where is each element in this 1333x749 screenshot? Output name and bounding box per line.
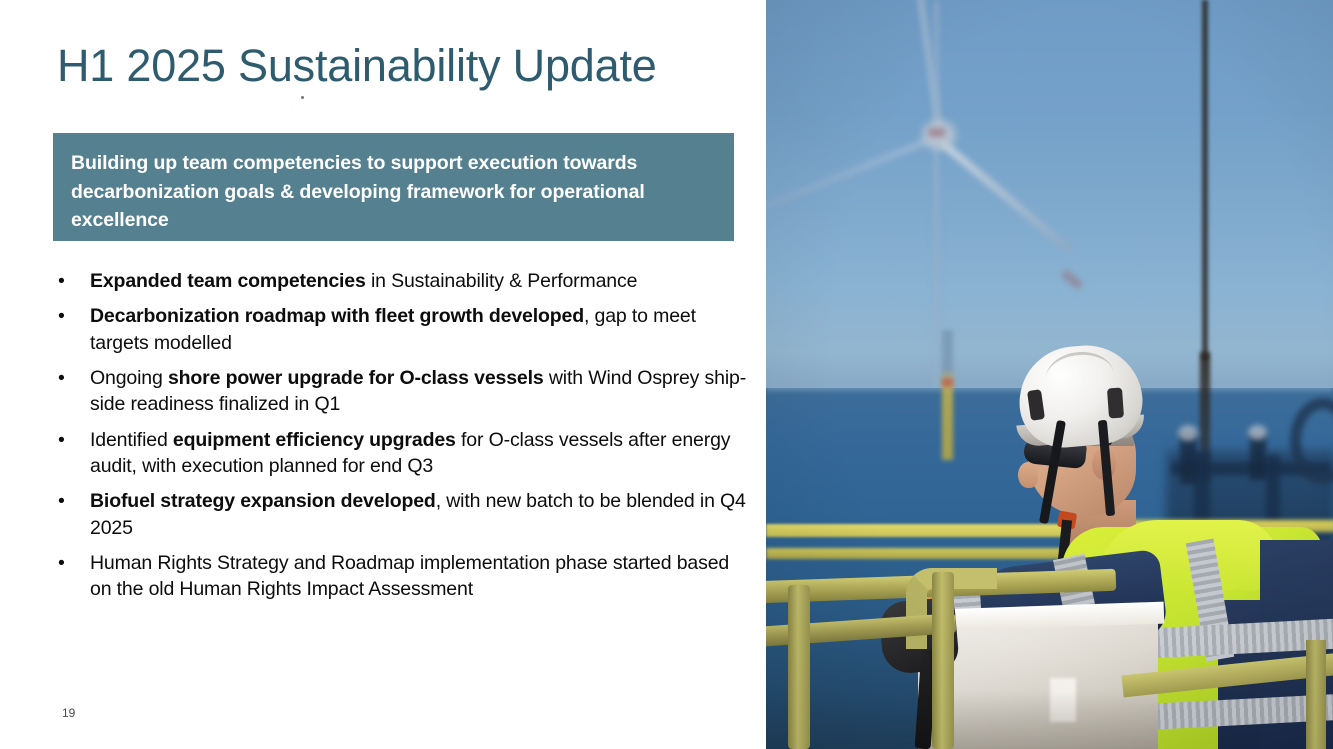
bullet-marker: • <box>58 550 65 576</box>
bullet-text-plain: in Sustainability & Performance <box>366 270 638 292</box>
railing-bar <box>766 524 1096 537</box>
bullet-item: •Expanded team competencies in Sustainab… <box>53 268 753 294</box>
bullet-item: •Biofuel strategy expansion developed, w… <box>53 488 753 541</box>
bullet-marker: • <box>58 303 65 329</box>
bullet-text-plain: Human Rights Strategy and Roadmap implem… <box>90 552 729 600</box>
photo-offshore-wind-technician <box>766 0 1333 749</box>
dark-mast <box>1201 0 1209 360</box>
worker-nose <box>1018 462 1038 488</box>
bullet-marker: • <box>58 268 65 294</box>
bullet-text-bold: Expanded team competencies <box>90 270 366 292</box>
bullet-item: •Identified equipment efficiency upgrade… <box>53 427 753 480</box>
turbine-hub-marking <box>929 128 945 137</box>
turbine-tower <box>932 0 941 400</box>
bullet-item: •Ongoing shore power upgrade for O-class… <box>53 365 753 418</box>
stray-dot-artifact <box>301 96 304 99</box>
bullet-text: Decarbonization roadmap with fleet growt… <box>90 305 696 353</box>
bullet-text-bold: Biofuel strategy expansion developed <box>90 490 436 512</box>
bullet-text-bold: shore power upgrade for O-class vessels <box>168 367 544 389</box>
headline-banner: Building up team competencies to support… <box>53 133 734 241</box>
concrete-block-shadow <box>918 690 1158 749</box>
bullet-text: Human Rights Strategy and Roadmap implem… <box>90 552 729 600</box>
photo-sky <box>766 0 1333 400</box>
bullet-text: Ongoing shore power upgrade for O-class … <box>90 367 746 415</box>
background-worker-helmet <box>1248 425 1267 440</box>
bullet-list: •Expanded team competencies in Sustainab… <box>53 268 753 611</box>
foreground-railing-post <box>932 572 954 749</box>
bullet-item: •Decarbonization roadmap with fleet grow… <box>53 303 753 356</box>
sea-marker-pole <box>942 330 953 460</box>
bullet-marker: • <box>58 488 65 514</box>
bullet-marker: • <box>58 427 65 453</box>
bullet-text-plain: Identified <box>90 429 173 451</box>
bullet-text: Biofuel strategy expansion developed, wi… <box>90 490 746 538</box>
bullet-item: •Human Rights Strategy and Roadmap imple… <box>53 550 753 603</box>
page-number: 19 <box>62 706 75 720</box>
bullet-marker: • <box>58 365 65 391</box>
page-title: H1 2025 Sustainability Update <box>57 40 657 92</box>
headline-banner-text: Building up team competencies to support… <box>71 149 712 235</box>
bullet-text: Identified equipment efficiency upgrades… <box>90 429 730 477</box>
bullet-text-plain: Ongoing <box>90 367 168 389</box>
slide: H1 2025 Sustainability Update Building u… <box>0 0 1333 749</box>
content-column: H1 2025 Sustainability Update Building u… <box>0 0 766 749</box>
foreground-railing-post <box>788 585 810 749</box>
background-worker-helmet <box>1178 425 1198 441</box>
bullet-text-bold: equipment efficiency upgrades <box>173 429 456 451</box>
bullet-text-bold: Decarbonization roadmap with fleet growt… <box>90 305 584 327</box>
sea-marker-pole-band <box>942 378 953 387</box>
railing-bar <box>766 548 1066 559</box>
bullet-text: Expanded team competencies in Sustainabi… <box>90 270 637 292</box>
hard-hat-vent <box>1107 388 1124 419</box>
foreground-railing-post <box>1306 640 1326 749</box>
